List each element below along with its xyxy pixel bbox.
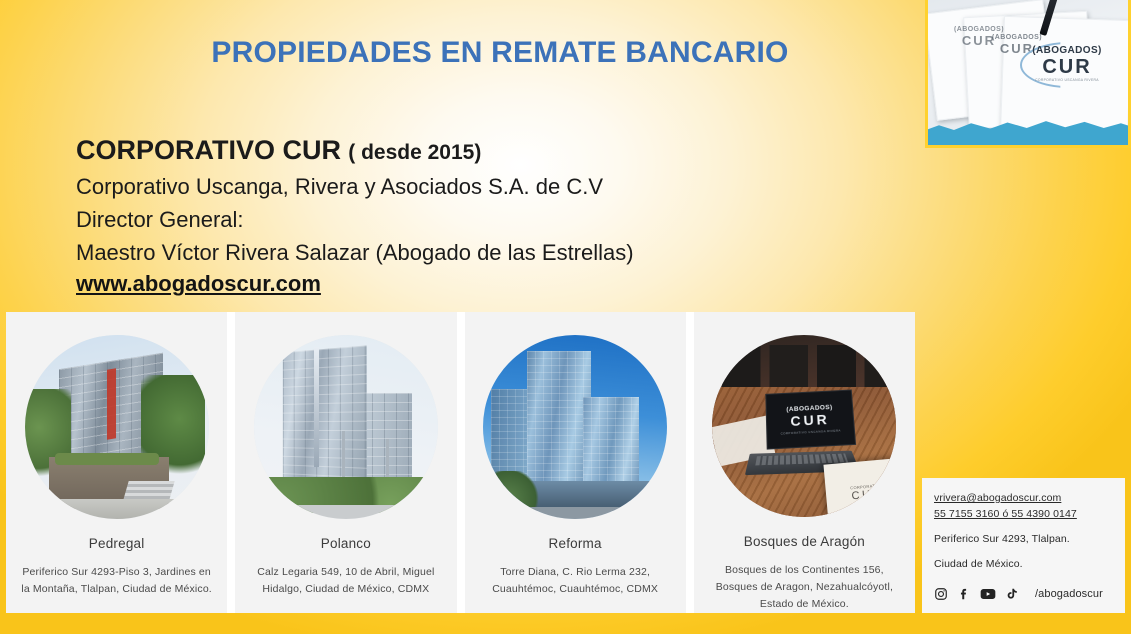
tiktok-icon[interactable] — [1005, 587, 1018, 601]
office-address: Periferico Sur 4293-Piso 3, Jardines en … — [6, 564, 227, 598]
spacer — [934, 522, 1113, 531]
ground — [254, 505, 438, 519]
page-title: PROPIEDADES EN REMATE BANCARIO — [0, 36, 1000, 70]
office-chairs — [722, 345, 896, 393]
firm-name-line: CORPORATIVO CUR ( desde 2015) — [76, 133, 634, 170]
office-photo-reforma — [483, 335, 667, 519]
firm-info-block: CORPORATIVO CUR ( desde 2015) Corporativ… — [76, 133, 634, 299]
ground — [25, 499, 209, 519]
firm-since: ( desde 2015) — [348, 141, 481, 164]
office-card-bosques-de-aragon[interactable]: (ABOGADOS) CUR CORPORATIVO USCANGA RIVER… — [694, 312, 915, 613]
firm-role-label: Director General: — [76, 203, 634, 236]
brand-logo-main: (ABOGADOS) CUR CORPORATIVO USCANGA RIVER… — [1024, 46, 1110, 82]
contact-panel: vrivera@abogadoscur.com 55 7155 3160 ó 5… — [922, 478, 1125, 613]
office-photo-bosques-de-aragon: (ABOGADOS) CUR CORPORATIVO USCANGA RIVER… — [712, 335, 896, 517]
office-card-reforma[interactable]: Reforma Torre Diana, C. Rio Lerma 232, C… — [465, 312, 686, 613]
office-photo-polanco — [254, 335, 438, 519]
tower-spine — [314, 347, 319, 467]
office-address: Bosques de los Continentes 156, Bosques … — [694, 562, 915, 613]
social-handle: /abogadoscur — [1035, 588, 1103, 600]
contact-address-line-1: Periferico Sur 4293, Tlalpan. — [934, 531, 1113, 547]
office-name: Polanco — [321, 536, 371, 551]
social-links-row: /abogadoscur — [934, 587, 1103, 601]
branded-folder: CORPORATIVO CUR — [824, 458, 897, 517]
office-address: Torre Diana, C. Rio Lerma 232, Cuauhtémo… — [465, 564, 686, 598]
firm-name: CORPORATIVO CUR — [76, 135, 341, 165]
office-name: Reforma — [549, 536, 602, 551]
contact-address-line-2: Ciudad de México. — [934, 556, 1113, 572]
youtube-icon[interactable] — [980, 587, 996, 601]
office-name: Pedregal — [89, 536, 145, 551]
office-card-polanco[interactable]: Polanco Calz Legaria 549, 10 de Abril, M… — [235, 312, 456, 613]
office-photo-pedregal — [25, 335, 209, 519]
spacer — [934, 547, 1113, 556]
facebook-icon[interactable] — [957, 587, 971, 601]
office-card-pedregal[interactable]: Pedregal Periferico Sur 4293-Piso 3, Jar… — [6, 312, 227, 613]
firm-director: Maestro Víctor Rivera Salazar (Abogado d… — [76, 236, 634, 269]
red-accent-stripe — [107, 368, 116, 439]
hedge — [55, 453, 159, 465]
laptop-screen: (ABOGADOS) CUR CORPORATIVO USCANGA RIVER… — [766, 390, 857, 450]
contact-phones[interactable]: 55 7155 3160 ó 55 4390 0147 — [934, 506, 1113, 522]
ground — [483, 507, 667, 519]
office-address: Calz Legaria 549, 10 de Abril, Miguel Hi… — [235, 564, 456, 598]
instagram-icon[interactable] — [934, 587, 948, 601]
offices-panel: Pedregal Periferico Sur 4293-Piso 3, Jar… — [6, 312, 915, 613]
firm-legal-name: Corporativo Uscanga, Rivera y Asociados … — [76, 170, 634, 203]
office-name: Bosques de Aragón — [744, 534, 865, 549]
brand-photo: (ABOGADOS) CUR (ABOGADOS) CUR (ABOGADOS)… — [925, 0, 1131, 148]
firm-website-link[interactable]: www.abogadoscur.com — [76, 269, 634, 299]
contact-email[interactable]: vrivera@abogadoscur.com — [934, 490, 1113, 506]
